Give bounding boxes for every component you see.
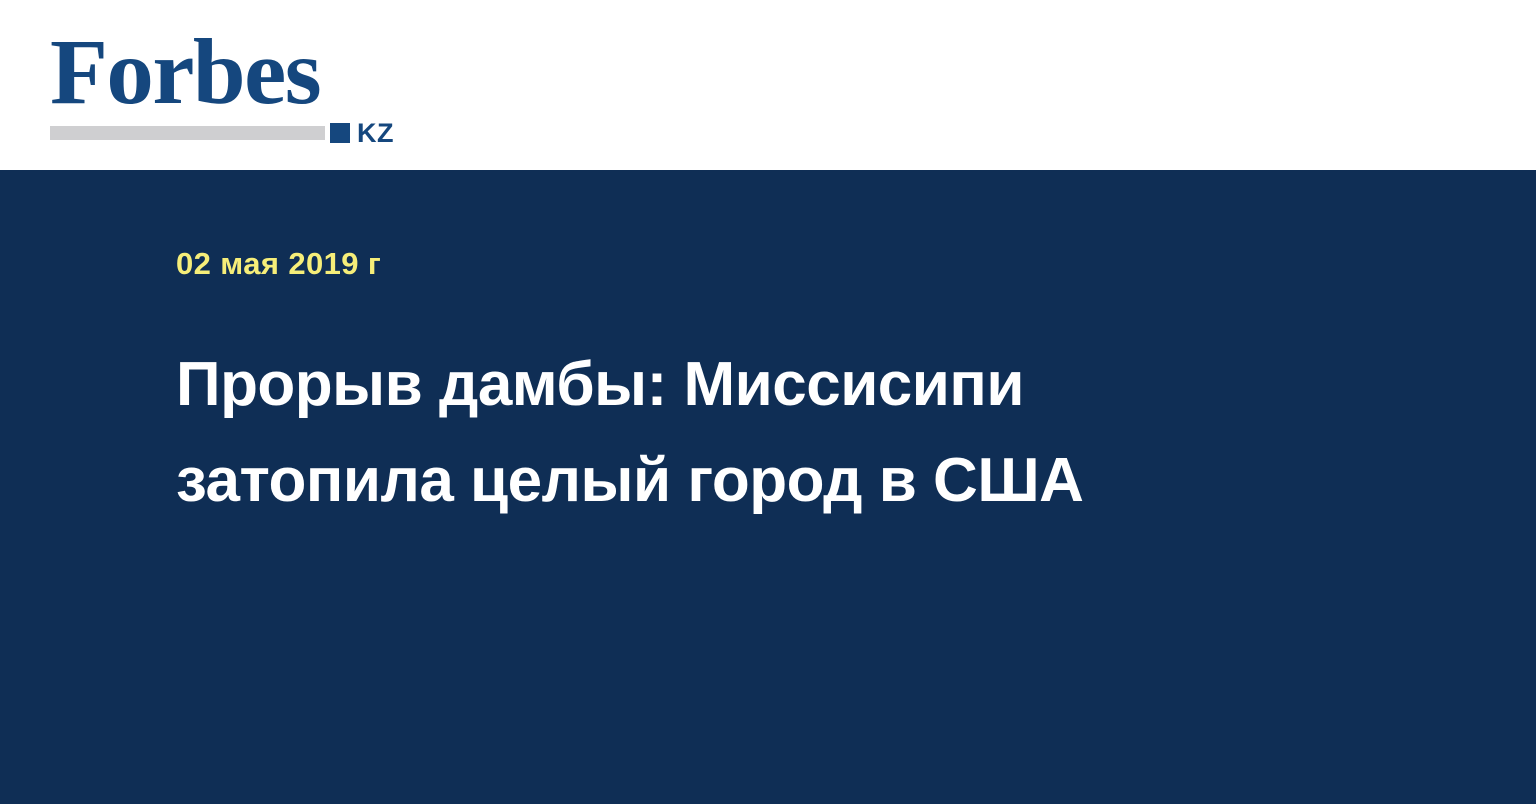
brand-underline-row: KZ — [50, 122, 410, 144]
article-publish-date: 02 мая 2019 г — [176, 248, 1296, 279]
article-hero-banner: 02 мая 2019 г Прорыв дамбы: Миссисипи за… — [0, 170, 1536, 804]
blue-square-icon — [330, 123, 350, 143]
brand-country-suffix: KZ — [357, 120, 394, 147]
brand-rule-divider — [50, 126, 325, 140]
brand-wordmark: Forbes — [50, 27, 417, 118]
article-hero-content: 02 мая 2019 г Прорыв дамбы: Миссисипи за… — [176, 248, 1296, 529]
article-header-page: Forbes KZ 02 мая 2019 г Прорыв дамбы: Ми… — [0, 0, 1536, 804]
article-headline: Прорыв дамбы: Миссисипи затопила целый г… — [176, 337, 1236, 529]
site-header: Forbes KZ — [0, 0, 1536, 170]
forbes-kz-logo[interactable]: Forbes KZ — [50, 27, 410, 145]
